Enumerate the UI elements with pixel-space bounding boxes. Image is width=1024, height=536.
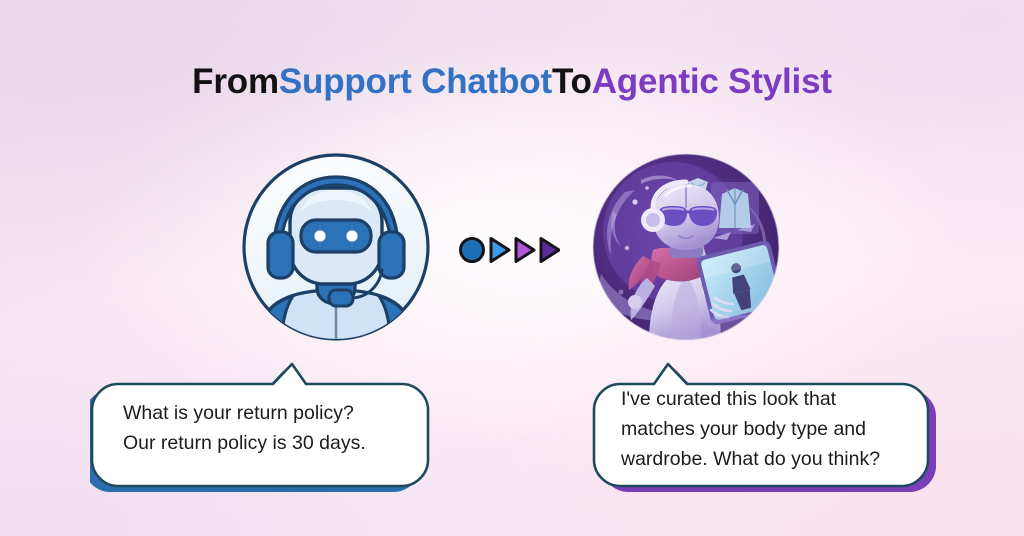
circle-marker-icon [461, 239, 484, 262]
play-triangle-pink-icon [516, 239, 534, 262]
agentic-stylist-message: I've curated this look that matches your… [621, 384, 921, 474]
title-part-from: From [192, 62, 279, 101]
title-part-support-chatbot: Support Chatbot [279, 62, 552, 101]
infographic-canvas: FromSupport ChatbotToAgentic Stylist [0, 0, 1024, 536]
agentic-stylist-speech-bubble: I've curated this look that matches your… [592, 362, 938, 492]
title-part-to: To [552, 62, 592, 101]
support-chatbot-speech-bubble: What is your return policy? Our return p… [90, 362, 438, 492]
page-title: FromSupport ChatbotToAgentic Stylist [0, 62, 1024, 102]
support-chatbot-avatar [241, 152, 431, 342]
play-triangle-purple-icon [541, 239, 559, 262]
title-part-agentic-stylist: Agentic Stylist [592, 62, 832, 101]
support-chatbot-message: What is your return policy? Our return p… [123, 398, 423, 458]
progression-arrows [458, 233, 560, 267]
agentic-stylist-avatar [591, 152, 781, 342]
play-triangle-blue-icon [491, 239, 509, 262]
